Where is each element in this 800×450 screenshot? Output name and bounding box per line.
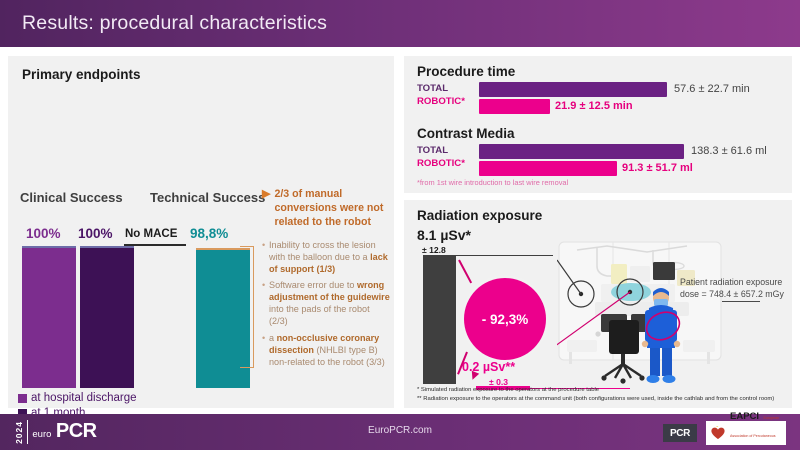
bar-value-clinical-discharge: 100% (26, 226, 61, 241)
bar-radiation-table (423, 256, 456, 384)
radiation-value-command: 0.2 µSv** (462, 360, 515, 374)
procedure-time-heading: Procedure time (417, 64, 515, 79)
list-item-text: Software error due to wrong adjustment o… (269, 279, 390, 327)
reduction-badge: - 92,3% (464, 278, 546, 360)
eapci-text-block: EAPCI European Association of Percutaneo… (730, 406, 786, 450)
list-item-text: a non-occlusive coronary dissection (NHL… (269, 332, 390, 368)
radiation-exposure-heading: Radiation exposure (417, 208, 542, 223)
technical-success-label: Technical Success (150, 190, 265, 205)
cathlab-illustration (557, 236, 723, 391)
patient-dose-text: Patient radiation exposure dose = 748.4 … (680, 276, 792, 301)
list-item: • a non-occlusive coronary dissection (N… (262, 332, 390, 368)
clinical-success-label: Clinical Success (20, 190, 123, 205)
radiation-exposure-panel: Radiation exposure 8.1 µSv* ± 12.8 - 92,… (404, 200, 792, 408)
value-contrast-media-robotic: 91.3 ± 51.7 ml (622, 162, 693, 174)
contrast-media-row-labels: TOTAL ROBOTIC* (417, 145, 465, 171)
reduction-arrow-in (458, 260, 472, 284)
bar-contrast-media-total (479, 144, 684, 159)
dot-bullet-icon: • (262, 332, 269, 368)
dot-bullet-icon: • (262, 239, 269, 275)
endpoints-bar-chart (20, 246, 250, 388)
list-item: • Software error due to wrong adjustment… (262, 279, 390, 327)
label-total: TOTAL (417, 83, 465, 96)
bullet-heading-text: 2/3 of manual conversions were not relat… (274, 188, 390, 230)
value-contrast-media-total: 138.3 ± 61.6 ml (691, 145, 767, 157)
bar-contrast-media-robotic (479, 161, 617, 176)
bar-procedure-time-total (479, 82, 667, 97)
contrast-media-heading: Contrast Media (417, 126, 515, 141)
list-item: • Inability to cross the lesion with the… (262, 239, 390, 275)
bar-clinical-discharge (22, 246, 76, 388)
triangle-bullet-icon: ▶ (262, 188, 270, 202)
eapci-logo: EAPCI European Association of Percutaneo… (706, 421, 786, 445)
page-title: Results: procedural characteristics (0, 12, 327, 35)
heart-icon (710, 425, 726, 441)
eapci-name: EAPCI (730, 411, 759, 422)
value-procedure-time-total: 57.6 ± 22.7 min (674, 83, 750, 95)
radiation-footnote-2: ** Radiation exposure to the operators a… (417, 395, 774, 404)
primary-endpoints-panel: Primary endpoints Clinical Success Techn… (8, 56, 394, 408)
procedure-footnote: *from 1st wire introduction to last wire… (417, 178, 568, 187)
primary-endpoints-heading: Primary endpoints (22, 67, 141, 82)
procedure-time-row-labels: TOTAL ROBOTIC* (417, 83, 465, 109)
legend-item: at hospital discharge (18, 392, 136, 404)
value-procedure-time-robotic: 21.9 ± 12.5 min (555, 100, 633, 112)
slide-title-bar: Results: procedural characteristics (0, 0, 800, 47)
no-mace-label: No MACE (125, 228, 177, 240)
list-item-text: Inability to cross the lesion with the b… (269, 239, 390, 275)
bar-procedure-time-robotic (479, 99, 550, 114)
label-robotic: ROBOTIC* (417, 158, 465, 171)
legend-label-discharge: at hospital discharge (31, 392, 136, 404)
bar-value-technical: 98,8% (190, 226, 228, 241)
radiation-value-table: 8.1 µSv* (417, 227, 471, 243)
slide-root: Results: procedural characteristics Prim… (0, 0, 800, 450)
radiation-value-table-sd: ± 12.8 (422, 245, 446, 255)
label-robotic: ROBOTIC* (417, 96, 465, 109)
label-total: TOTAL (417, 145, 465, 158)
bar-clinical-1month (80, 246, 134, 388)
procedure-metrics-panel: Procedure time TOTAL ROBOTIC* 57.6 ± 22.… (404, 56, 792, 193)
legend-swatch-discharge (18, 394, 27, 403)
technical-success-bracket (240, 246, 254, 368)
patient-dose-leader-line (722, 301, 760, 302)
dot-bullet-icon: • (262, 279, 269, 327)
bullet-heading: ▶ 2/3 of manual conversions were not rel… (262, 188, 390, 230)
bar-value-clinical-1month: 100% (78, 226, 113, 241)
conversions-bullet-list: ▶ 2/3 of manual conversions were not rel… (262, 188, 390, 372)
radiation-footnote-1: * Simulated radiation exposure to the op… (417, 386, 774, 395)
pcr-badge-logo: PCR (663, 424, 697, 442)
radiation-footnotes: * Simulated radiation exposure to the op… (417, 386, 774, 404)
